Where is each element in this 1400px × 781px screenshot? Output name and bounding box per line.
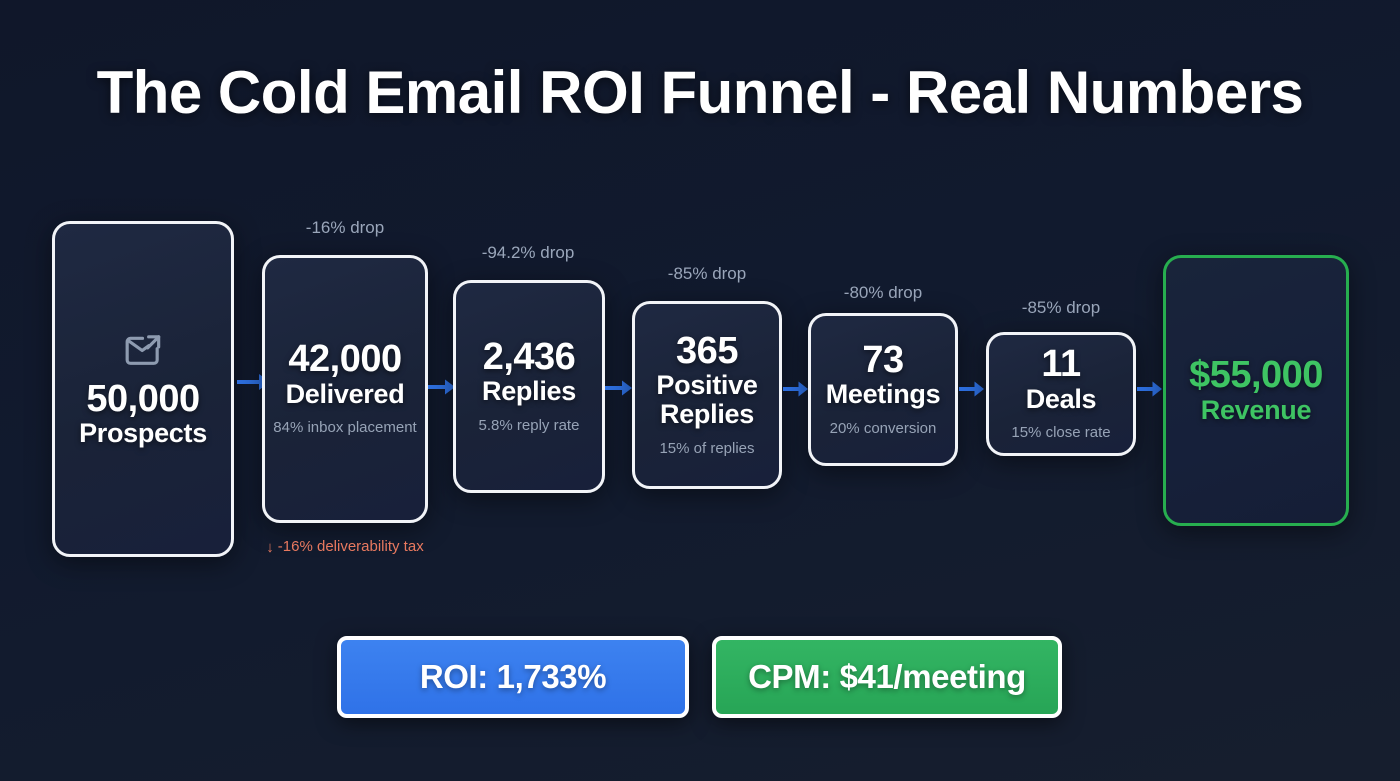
funnel-value-replies: 2,436 [483,338,576,378]
mail-send-icon [122,330,164,370]
funnel-label-positive-replies: Positive Replies [647,371,767,428]
arrow-right-icon-5 [959,379,985,399]
deliverability-tax-note: ↓-16% deliverability tax [240,537,450,558]
funnel-sub-delivered: 84% inbox placement [273,418,416,438]
funnel-label-delivered: Delivered [286,380,405,409]
funnel-row: -16% drop -94.2% drop -85% drop -80% dro… [0,0,1400,781]
funnel-value-meetings: 73 [862,341,903,381]
funnel-sub-positive-replies: 15% of replies [659,439,754,459]
arrow-right-icon-3 [605,378,633,398]
funnel-card-meetings[interactable]: 73 Meetings 20% conversion [808,313,958,466]
metric-badge-roi[interactable]: ROI: 1,733% [337,636,689,718]
arrow-right-icon-4 [783,379,809,399]
funnel-label-meetings: Meetings [826,380,941,409]
arrow-down-icon: ↓ [266,538,274,558]
funnel-label-deals: Deals [1026,385,1097,414]
funnel-card-revenue[interactable]: $55,000 Revenue [1163,255,1349,526]
funnel-card-prospects[interactable]: 50,000 Prospects [52,221,234,557]
funnel-value-prospects: 50,000 [86,380,199,420]
deliverability-tax-text: -16% deliverability tax [278,538,424,555]
funnel-sub-replies: 5.8% reply rate [479,416,580,436]
funnel-value-revenue: $55,000 [1189,356,1323,396]
arrow-right-icon-2 [428,377,456,397]
funnel-value-positive-replies: 365 [676,332,738,372]
funnel-card-positive-replies[interactable]: 365 Positive Replies 15% of replies [632,301,782,489]
funnel-label-replies: Replies [482,377,576,406]
funnel-card-replies[interactable]: 2,436 Replies 5.8% reply rate [453,280,605,493]
metric-badge-cpm[interactable]: CPM: $41/meeting [712,636,1062,718]
funnel-card-delivered[interactable]: 42,000 Delivered 84% inbox placement [262,255,428,523]
drop-label-meetings: -80% drop [793,283,973,303]
drop-label-delivered: -16% drop [255,218,435,238]
funnel-label-prospects: Prospects [79,419,207,448]
funnel-sub-meetings: 20% conversion [830,419,937,439]
drop-label-replies: -94.2% drop [438,243,618,263]
funnel-card-deals[interactable]: 11 Deals 15% close rate [986,332,1136,456]
metric-badge-roi-label: ROI: 1,733% [420,658,606,696]
funnel-label-revenue: Revenue [1201,396,1311,425]
funnel-sub-deals: 15% close rate [1011,423,1110,443]
drop-label-positive-replies: -85% drop [617,264,797,284]
metric-badge-cpm-label: CPM: $41/meeting [748,658,1026,696]
funnel-value-deals: 11 [1041,345,1080,385]
funnel-value-delivered: 42,000 [288,340,401,380]
arrow-right-icon-6 [1137,379,1163,399]
drop-label-deals: -85% drop [971,298,1151,318]
